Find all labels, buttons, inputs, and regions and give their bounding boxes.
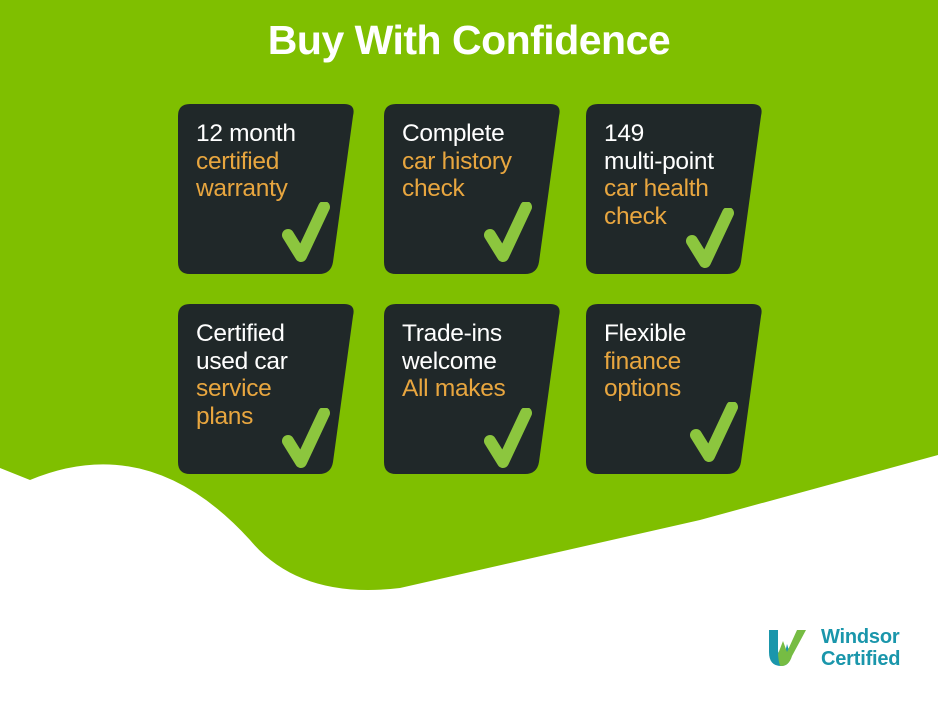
card-line: multi-point bbox=[604, 148, 754, 176]
logo-wordmark: Windsor Certified bbox=[821, 626, 900, 671]
card-line: Flexible bbox=[604, 320, 754, 348]
card-line: 149 bbox=[604, 120, 754, 148]
card-line: car history bbox=[402, 148, 552, 176]
card-line: service bbox=[196, 375, 346, 403]
check-tick-icon bbox=[690, 402, 740, 464]
buy-with-confidence-banner: Buy With Confidence 12 month certified w… bbox=[0, 0, 938, 704]
card-line: options bbox=[604, 375, 754, 403]
feature-card-12-month-certified-warranty[interactable]: 12 month certified warranty bbox=[178, 104, 356, 274]
card-line: welcome bbox=[402, 348, 552, 376]
logo-line-certified: Certified bbox=[821, 648, 900, 670]
feature-card-flexible-finance-options[interactable]: Flexible finance options bbox=[586, 304, 764, 474]
card-text-block: 12 month certified warranty bbox=[196, 120, 346, 203]
check-tick-icon bbox=[282, 408, 332, 470]
check-tick-icon bbox=[282, 202, 332, 264]
card-line: 12 month bbox=[196, 120, 346, 148]
card-line: Certified bbox=[196, 320, 346, 348]
check-tick-icon bbox=[484, 408, 534, 470]
card-text-block: Trade-ins welcome All makes bbox=[402, 320, 552, 403]
card-line: Trade-ins bbox=[402, 320, 552, 348]
feature-card-complete-car-history-check[interactable]: Complete car history check bbox=[384, 104, 562, 274]
page-title: Buy With Confidence bbox=[0, 16, 938, 65]
logo-line-windsor: Windsor bbox=[821, 626, 900, 648]
feature-card-149-multi-point-car-health-check[interactable]: 149 multi-point car health check bbox=[586, 104, 764, 274]
windsor-w-icon bbox=[762, 624, 814, 672]
feature-card-trade-ins-welcome-all-makes[interactable]: Trade-ins welcome All makes bbox=[384, 304, 562, 474]
check-tick-icon bbox=[484, 202, 534, 264]
card-line: car health bbox=[604, 175, 754, 203]
windsor-certified-logo[interactable]: Windsor Certified bbox=[762, 624, 900, 672]
card-line: check bbox=[402, 175, 552, 203]
card-line: Complete bbox=[402, 120, 552, 148]
check-tick-icon bbox=[686, 208, 736, 270]
card-line: used car bbox=[196, 348, 346, 376]
card-line: certified bbox=[196, 148, 346, 176]
card-text-block: Flexible finance options bbox=[604, 320, 754, 403]
feature-card-certified-used-car-service-plans[interactable]: Certified used car service plans bbox=[178, 304, 356, 474]
card-line: finance bbox=[604, 348, 754, 376]
card-line: warranty bbox=[196, 175, 346, 203]
card-line: All makes bbox=[402, 375, 552, 403]
card-text-block: Complete car history check bbox=[402, 120, 552, 203]
